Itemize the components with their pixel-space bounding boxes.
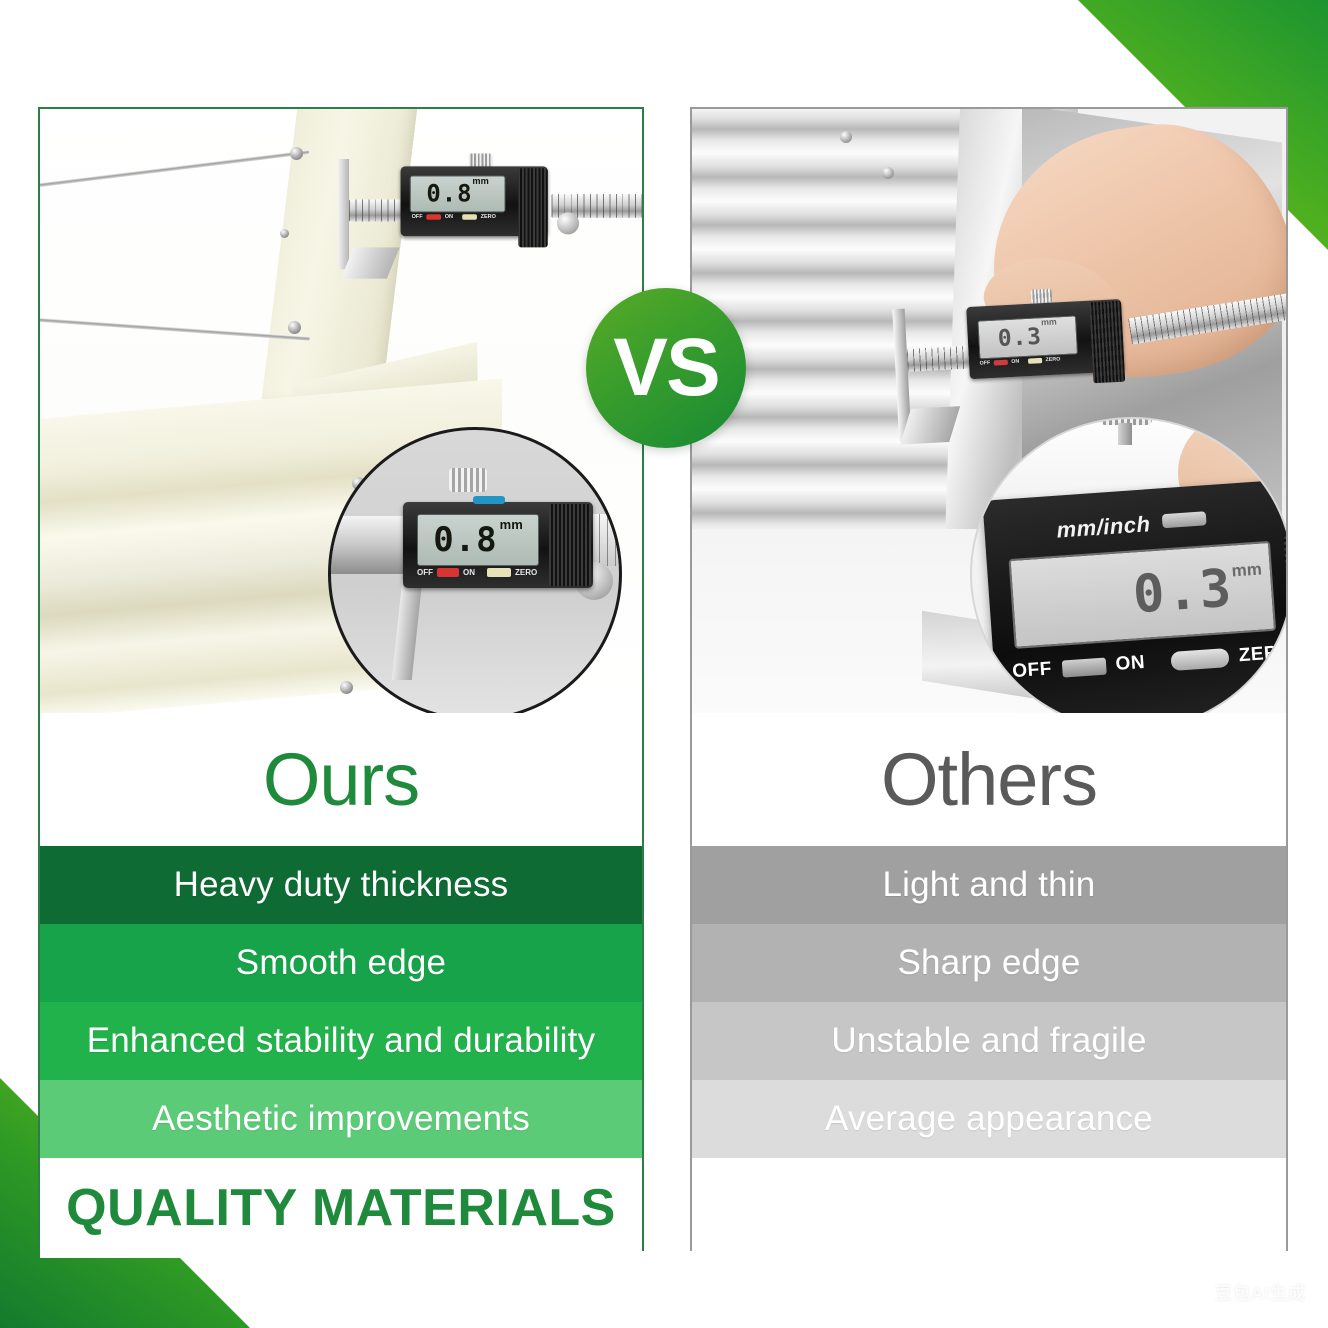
caliper-knurled-grip: [1089, 301, 1125, 384]
caliper-display: 0.3 mm: [1009, 541, 1277, 649]
caliper-display: 0.3 mm: [977, 316, 1077, 360]
feature-row: Sharp edge: [692, 924, 1286, 1002]
magnified-caliper-jaw: [392, 580, 423, 680]
caliper-unit: mm: [500, 517, 523, 532]
caliper-power-switch: [1061, 657, 1106, 677]
caliper-reading: 0.3: [997, 325, 1042, 350]
caliper-button-row: OFF ON ZERO: [412, 214, 519, 220]
caliper-knurled-grip: [1284, 534, 1286, 628]
caliper-unit: mm: [472, 176, 488, 186]
caliper-button-row: OFF ON ZERO: [417, 568, 557, 577]
caliper-zero-button: [487, 568, 511, 577]
caliper-zero-label: ZERO: [1045, 357, 1060, 363]
caliper-lock-disc: [557, 212, 579, 234]
panel-footer-ours: QUALITY MATERIALS: [40, 1158, 642, 1258]
caliper-zero-button: [1170, 647, 1229, 670]
caliper-knurled-grip: [518, 168, 547, 247]
caliper-display: 0.8 mm: [417, 514, 539, 566]
caliper-zero-label: ZERO: [481, 214, 496, 220]
feature-list-others: Light and thin Sharp edge Unstable and f…: [692, 846, 1286, 1158]
digital-caliper-magnified-others: mm/inch 0.3 mm OFF ON ZERO: [982, 478, 1286, 713]
watermark: 豆包AI生成: [1215, 1279, 1306, 1304]
feature-row: Unstable and fragile: [692, 1002, 1286, 1080]
product-photo-ours: 0.8 mm OFF ON ZERO: [40, 109, 642, 713]
magnifier-others: mm/inch 0.3 mm OFF ON ZERO: [970, 417, 1286, 713]
comparison-panel-ours: 0.8 mm OFF ON ZERO: [38, 107, 644, 1251]
caliper-fixed-jaw: [338, 159, 349, 269]
panel-heading-others: Others: [692, 713, 1286, 846]
product-photo-others: 0.3 mm OFF ON ZERO mm/inch 0.3 m: [692, 109, 1286, 713]
caliper-power-switch: [437, 568, 459, 577]
feature-list-ours: Heavy duty thickness Smooth edge Enhance…: [40, 846, 642, 1158]
rivet-icon: [340, 681, 353, 694]
feature-label: Aesthetic improvements: [152, 1099, 530, 1139]
caliper-reading: 0.8: [426, 182, 472, 206]
rivet-icon: [882, 167, 894, 179]
feature-row: Smooth edge: [40, 924, 642, 1002]
caliper-zero-button: [462, 214, 477, 220]
feature-label: Heavy duty thickness: [174, 865, 509, 905]
caliper-reading: 0.8: [433, 523, 497, 557]
galvanized-corrugated-sheet: [692, 109, 988, 545]
caliper-on-label: ON: [445, 214, 453, 220]
feature-label: Smooth edge: [236, 943, 446, 983]
caliper-brand-strip: [473, 496, 505, 504]
feature-row: Average appearance: [692, 1080, 1286, 1158]
heading-label: Others: [881, 737, 1097, 822]
caliper-on-label: ON: [1011, 359, 1019, 365]
magnified-caliper-screw-stem: [1118, 423, 1132, 445]
rivet-icon: [280, 229, 289, 238]
caliper-off-label: OFF: [1012, 658, 1053, 683]
rivet-icon: [840, 131, 852, 143]
feature-label: Enhanced stability and durability: [87, 1021, 596, 1061]
feature-label: Sharp edge: [898, 943, 1081, 983]
magnifier-ours: 0.8 mm OFF ON ZERO: [328, 427, 622, 713]
caliper-mode-button: [1162, 511, 1207, 528]
caliper-brand-label: mm/inch: [1056, 511, 1152, 543]
support-wire-upper: [40, 150, 309, 188]
caliper-power-switch: [994, 360, 1008, 366]
caliper-power-switch: [426, 214, 441, 220]
caliper-on-label: ON: [463, 568, 475, 577]
caliper-scale-left: [349, 199, 406, 221]
caliper-off-label: OFF: [980, 361, 991, 367]
rivet-icon: [290, 147, 303, 160]
magnified-caliper-thumb-screw: [449, 468, 487, 492]
caliper-on-label: ON: [1115, 652, 1146, 676]
vs-label: VS: [613, 327, 718, 409]
caliper-zero-button: [1028, 358, 1042, 364]
feature-row: Heavy duty thickness: [40, 846, 642, 924]
caliper-off-label: OFF: [412, 214, 423, 220]
footer-label: QUALITY MATERIALS: [66, 1178, 616, 1238]
panel-heading-ours: Ours: [40, 713, 642, 846]
caliper-reading: 0.3: [1131, 563, 1234, 622]
feature-label: Light and thin: [883, 865, 1096, 905]
caliper-display: 0.8 mm: [410, 176, 506, 213]
caliper-unit: mm: [1231, 559, 1263, 581]
comparison-panel-others: 0.3 mm OFF ON ZERO mm/inch 0.3 m: [690, 107, 1288, 1251]
vs-badge: VS: [586, 288, 746, 448]
feature-row: Aesthetic improvements: [40, 1080, 642, 1158]
feature-label: Average appearance: [825, 1099, 1153, 1139]
caliper-thumb-screw: [1030, 289, 1052, 304]
panel-footer-others: [692, 1158, 1286, 1258]
rivet-icon: [288, 321, 301, 334]
caliper-zero-label: ZERO: [1238, 641, 1286, 667]
heading-label: Ours: [263, 737, 419, 822]
feature-row: Enhanced stability and durability: [40, 1002, 642, 1080]
feature-row: Light and thin: [692, 846, 1286, 924]
caliper-unit: mm: [1041, 317, 1057, 327]
caliper-off-label: OFF: [417, 568, 433, 577]
caliper-scale-left: [907, 346, 975, 372]
caliper-zero-label: ZERO: [515, 568, 537, 577]
feature-label: Unstable and fragile: [831, 1021, 1146, 1061]
